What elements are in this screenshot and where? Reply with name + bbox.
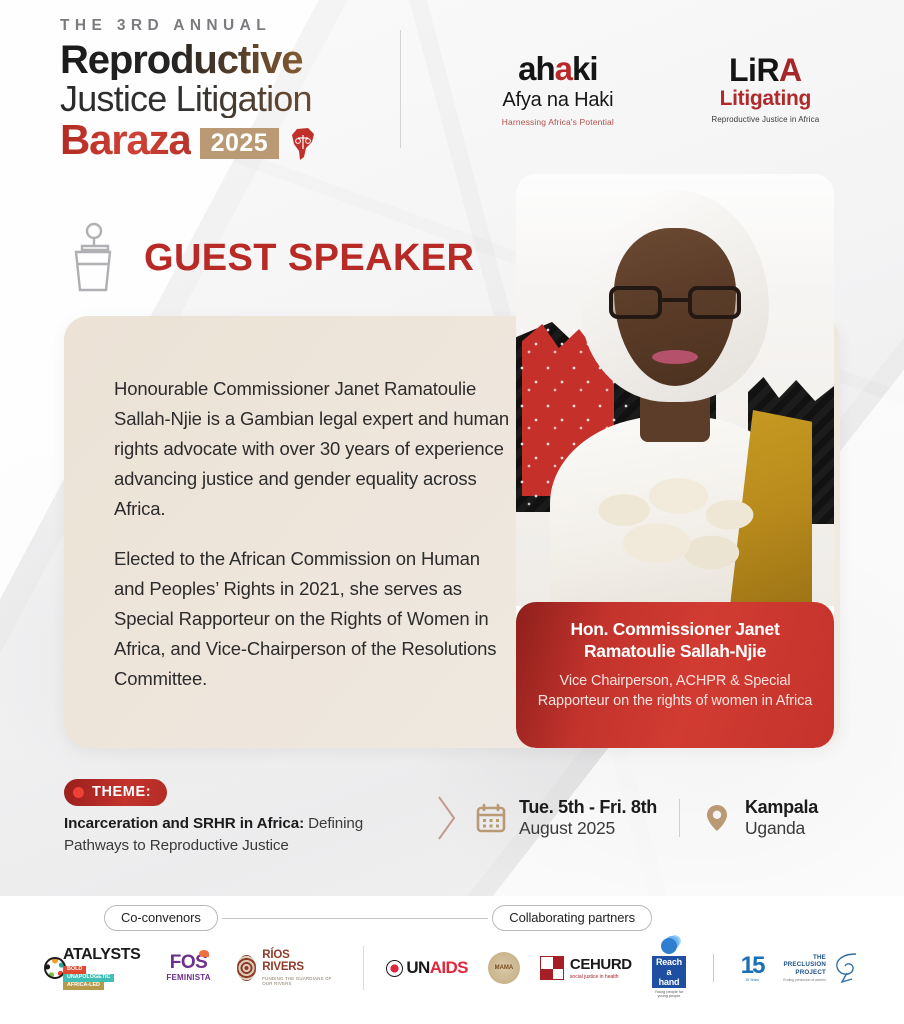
guest-speaker-heading-row: GUEST SPEAKER bbox=[64, 222, 474, 294]
preclusion-line-3: PROJECT bbox=[783, 969, 826, 976]
rios-tagline: FUNDING THE GUARDIANS OF OUR RIVERS bbox=[262, 976, 337, 986]
theme-dot-icon bbox=[73, 787, 84, 798]
logo-cehurd: CEHURD social justice in health bbox=[540, 956, 632, 980]
fos-subtitle: FEMINISTA bbox=[166, 973, 210, 982]
lira-part-l: L bbox=[729, 52, 748, 88]
catalysts-tag-3: AFRICA-LED bbox=[63, 982, 104, 990]
ahaki-wordmark: ahaki bbox=[502, 52, 614, 85]
logo-ahaki: ahaki Afya na Haki Harnessing Africa's P… bbox=[502, 52, 614, 127]
event-meta-group: Tue. 5th - Fri. 8th August 2025 Kampala … bbox=[476, 797, 818, 839]
catalysts-tag-1: BOLD bbox=[63, 966, 86, 974]
africa-scales-icon bbox=[288, 127, 318, 161]
event-location-secondary: Uganda bbox=[745, 818, 818, 839]
cehurd-wordmark: CEHURD bbox=[570, 957, 632, 972]
cehurd-mark-icon bbox=[540, 956, 564, 980]
bio-paragraph-1: Honourable Commissioner Janet Ramatoulie… bbox=[114, 374, 514, 524]
meta-divider bbox=[679, 799, 680, 837]
podium-icon bbox=[64, 222, 116, 294]
rios-spiral-icon bbox=[237, 955, 257, 981]
event-date-primary: Tue. 5th - Fri. 8th bbox=[519, 797, 657, 818]
footer-pill-row: Co-convenors Collaborating partners bbox=[0, 896, 904, 930]
event-date-secondary: August 2025 bbox=[519, 818, 657, 839]
speaker-lace-detail bbox=[584, 470, 766, 588]
brand-block: THE 3RD ANNUAL Reproductive Justice Liti… bbox=[0, 17, 392, 162]
event-location-primary: Kampala bbox=[745, 797, 818, 818]
cehurd-tagline: social justice in health bbox=[570, 974, 632, 980]
lira-wordmark: LiRA bbox=[711, 54, 819, 86]
calendar-icon bbox=[476, 803, 506, 833]
unaids-emblem-icon bbox=[386, 960, 403, 977]
lens-right bbox=[688, 286, 741, 319]
event-location: Kampala Uganda bbox=[702, 797, 818, 839]
unaids-aids: AIDS bbox=[430, 958, 468, 977]
unaids-wordmark: UNAIDS bbox=[406, 958, 468, 978]
speaker-photo-panel: Hon. Commissioner Janet Ramatoulie Salla… bbox=[516, 174, 834, 748]
event-year-badge: 2025 bbox=[200, 128, 280, 159]
mama-wordmark: MAMA bbox=[495, 965, 514, 971]
footer-logo-row: ATALYSTS BOLD UNAPOLOGETIC AFRICA-LED FO… bbox=[0, 930, 904, 998]
co-convenor-logos: ATALYSTS BOLD UNAPOLOGETIC AFRICA-LED FO… bbox=[44, 946, 363, 989]
event-title-line3: Baraza bbox=[60, 119, 191, 161]
ahaki-part-3: ki bbox=[572, 50, 598, 87]
lira-part-a: A bbox=[779, 52, 802, 88]
lira-tagline: Reproductive Justice in Africa bbox=[711, 115, 819, 124]
logo-fos-feminista: FOS FEMINISTA bbox=[166, 954, 210, 982]
reach-a-hand-wordmark: Reach a hand bbox=[652, 956, 686, 988]
ahaki-part-2: a bbox=[555, 50, 572, 87]
event-poster: THE 3RD ANNUAL Reproductive Justice Liti… bbox=[0, 0, 904, 1024]
lens-left bbox=[609, 286, 662, 319]
pill-connector-line bbox=[222, 918, 489, 919]
poster-footer: Co-convenors Collaborating partners ATAL… bbox=[0, 896, 904, 1024]
logo-unaids: UNAIDS bbox=[386, 958, 468, 978]
speaker-card: Honourable Commissioner Janet Ramatoulie… bbox=[64, 316, 840, 748]
event-title-line1: Reproductive bbox=[60, 41, 392, 81]
logo-catalysts: ATALYSTS BOLD UNAPOLOGETIC AFRICA-LED bbox=[44, 946, 140, 989]
preclusion-tagline: Ending preclusion of women bbox=[783, 978, 826, 982]
logo-lira: LiRA Litigating Reproductive Justice in … bbox=[711, 54, 819, 124]
ahaki-name: Afya na Haki bbox=[502, 89, 614, 112]
speaker-nameplate: Hon. Commissioner Janet Ramatoulie Salla… bbox=[516, 602, 834, 748]
guest-speaker-title: GUEST SPEAKER bbox=[144, 237, 474, 280]
collaborating-partner-logos: UNAIDS MAMA CEHURD social justice in hea… bbox=[364, 938, 860, 998]
preclusion-swirl-icon bbox=[830, 951, 860, 985]
logo-mama-network: MAMA bbox=[488, 952, 520, 984]
lira-part-r: R bbox=[756, 52, 779, 88]
co-convenors-pill: Co-convenors bbox=[104, 905, 218, 931]
chevron-right-icon bbox=[434, 791, 460, 845]
theme-badge: THEME: bbox=[64, 779, 167, 806]
rios-line-2: RIVERS bbox=[262, 962, 337, 974]
ahaki-part-1: ah bbox=[518, 50, 555, 87]
preclusion-line-2: PRECLUSION bbox=[783, 961, 826, 968]
catalysts-wordmark: ATALYSTS bbox=[63, 946, 140, 964]
logo-rios-rivers: RÍOS RIVERS FUNDING THE GUARDIANS OF OUR… bbox=[237, 950, 338, 985]
speaker-photo bbox=[516, 174, 834, 606]
logo-fifteen-years: 15 15 Years bbox=[741, 954, 764, 982]
speaker-name: Hon. Commissioner Janet Ramatoulie Salla… bbox=[534, 618, 816, 662]
reach-a-hand-globe-icon bbox=[661, 938, 677, 954]
theme-title-bold: Incarceration and SRHR in Africa: bbox=[64, 815, 304, 832]
catalysts-tag-2: UNAPOLOGETIC bbox=[63, 974, 114, 982]
poster-header: THE 3RD ANNUAL Reproductive Justice Liti… bbox=[0, 0, 904, 178]
lens-bridge bbox=[662, 298, 688, 302]
event-title-line2: Justice Litigation bbox=[60, 80, 392, 118]
event-location-text: Kampala Uganda bbox=[745, 797, 818, 839]
logo-reach-a-hand: Reach a hand Young people for young peop… bbox=[652, 938, 686, 998]
theme-block: THEME: Incarceration and SRHR in Africa:… bbox=[64, 779, 424, 856]
eyeglasses-icon bbox=[609, 286, 741, 320]
preclusion-line-1: THE bbox=[783, 954, 826, 961]
event-title-line3-row: Baraza 2025 bbox=[60, 119, 392, 161]
event-kicker: THE 3RD ANNUAL bbox=[60, 17, 392, 35]
speaker-role: Vice Chairperson, ACHPR & Special Rappor… bbox=[534, 671, 816, 711]
catalysts-taglines: BOLD UNAPOLOGETIC AFRICA-LED bbox=[63, 966, 140, 989]
fifteen-wordmark: 15 bbox=[741, 954, 764, 978]
footer-vertical-rule bbox=[713, 954, 714, 982]
collaborating-partners-pill: Collaborating partners bbox=[492, 905, 652, 931]
reach-a-hand-tagline: Young people for young people bbox=[652, 990, 686, 998]
map-pin-icon bbox=[702, 803, 732, 833]
event-date-text: Tue. 5th - Fri. 8th August 2025 bbox=[519, 797, 657, 839]
theme-and-event-details: THEME: Incarceration and SRHR in Africa:… bbox=[64, 772, 844, 864]
speaker-lips bbox=[652, 350, 698, 364]
speaker-bio: Honourable Commissioner Janet Ramatoulie… bbox=[114, 374, 514, 694]
theme-badge-label: THEME: bbox=[92, 784, 151, 800]
mama-circle-icon: MAMA bbox=[488, 952, 520, 984]
logo-preclusion-project: THE PRECLUSION PROJECT Ending preclusion… bbox=[783, 951, 860, 985]
partner-logos-header: ahaki Afya na Haki Harnessing Africa's P… bbox=[401, 52, 904, 127]
ahaki-tagline: Harnessing Africa's Potential bbox=[502, 117, 614, 127]
unaids-un: UN bbox=[406, 958, 429, 977]
lira-subtitle: Litigating bbox=[711, 87, 819, 111]
fos-leaf-icon bbox=[199, 950, 209, 957]
theme-text: Incarceration and SRHR in Africa: Defini… bbox=[64, 813, 424, 856]
event-date: Tue. 5th - Fri. 8th August 2025 bbox=[476, 797, 657, 839]
bio-paragraph-2: Elected to the African Commission on Hum… bbox=[114, 544, 514, 694]
